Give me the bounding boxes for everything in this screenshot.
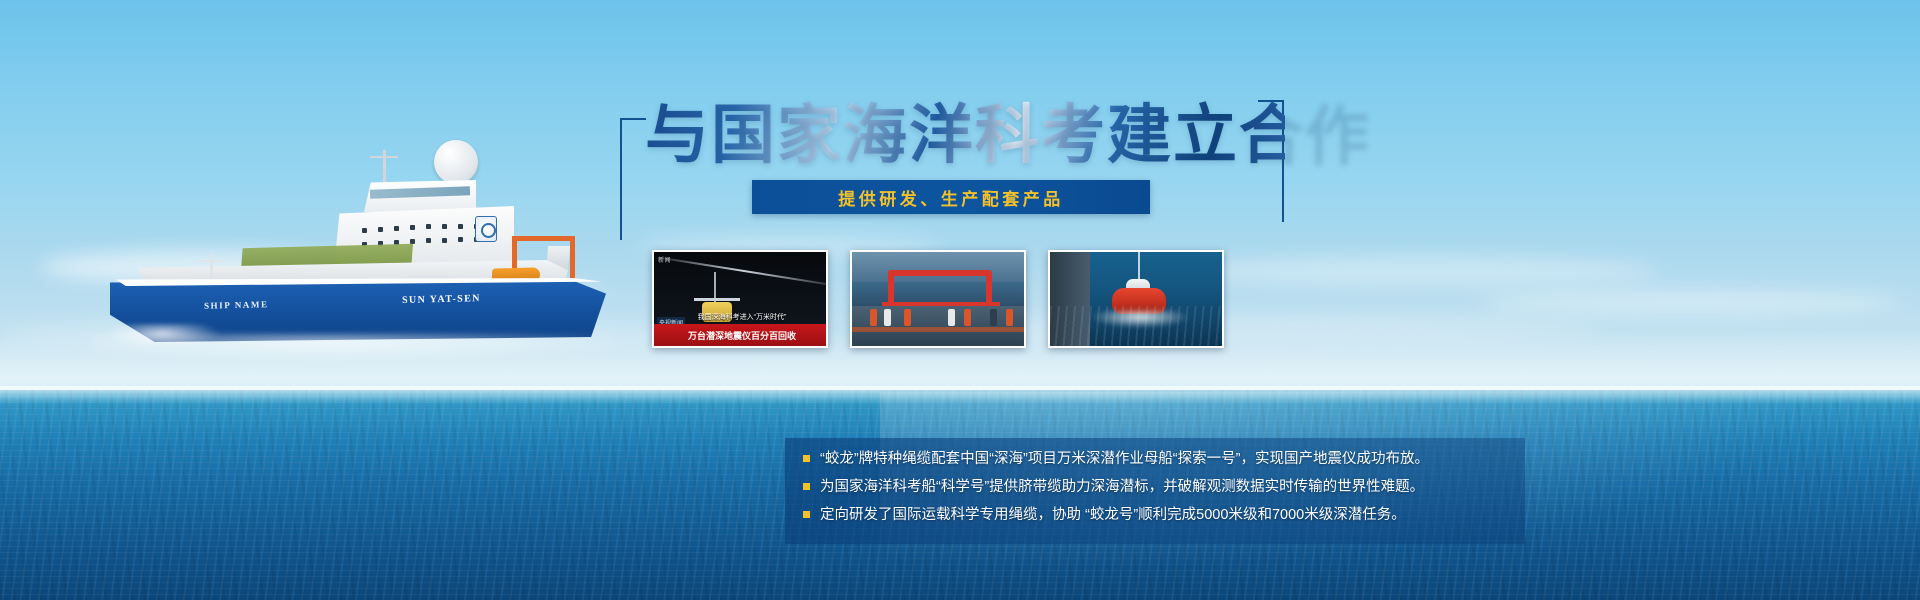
lift-rope <box>1138 252 1140 282</box>
crew-member <box>948 309 955 326</box>
list-item: “蛟龙”牌特种绳缆配套中国“深海”项目万米深潜作业母船“探索一号”，实现国产地震… <box>803 448 1509 470</box>
cloud <box>1480 290 1900 314</box>
crew-member <box>964 309 971 326</box>
hull-name-left: SHIP NAME <box>204 299 269 311</box>
page-title: 与国家海洋科考建立合作 <box>645 96 1285 174</box>
bullet-text: “蛟龙”牌特种绳缆配套中国“深海”项目万米深潜作业母船“探索一号”，实现国产地震… <box>820 448 1429 470</box>
tv-channel-tag: 新闻 <box>658 255 671 264</box>
ship-wake <box>92 334 652 364</box>
radome-dome <box>434 140 478 184</box>
photo-deck <box>852 306 1026 346</box>
thumbnail-deep-sea-deployment-news-clip[interactable]: 新闻 央视新闻 我国深海科考进入“万米时代” 万台潜深地震仪百分百回收 <box>652 250 828 348</box>
wave-texture <box>1050 306 1224 346</box>
crew-member <box>990 309 997 326</box>
news-caption: 我国深海科考进入“万米时代” <box>654 312 828 322</box>
hull-name-right: SUN YAT-SEN <box>402 293 481 306</box>
crew-member <box>904 309 911 326</box>
hero-banner: SHIP NAME SUN YAT-SEN 与国家海洋科考建立合作 提供研发、生… <box>0 0 1920 600</box>
highlights-panel: “蛟龙”牌特种绳缆配套中国“深海”项目万米深潜作业母船“探索一号”，实现国产地震… <box>785 438 1525 544</box>
news-ticker-bar: 万台潜深地震仪百分百回收 <box>654 324 828 346</box>
subtitle-text: 提供研发、生产配套产品 <box>838 185 1064 210</box>
ship-emblem <box>475 216 497 242</box>
lifting-arm <box>694 298 740 301</box>
research-vessel-illustration: SHIP NAME SUN YAT-SEN <box>92 128 622 368</box>
thumbnail-gallery: 新闻 央视新闻 我国深海科考进入“万米时代” 万台潜深地震仪百分百回收 <box>652 250 1224 348</box>
fore-mast-arm <box>198 260 224 262</box>
list-item: 定向研发了国际运载科学专用绳缆，协助 “蛟龙号”顺利完成5000米级和7000米… <box>803 504 1509 526</box>
bracket-left <box>620 118 646 240</box>
bullet-square-icon <box>803 511 810 518</box>
bullet-text: 定向研发了国际运载科学专用绳缆，协助 “蛟龙号”顺利完成5000米级和7000米… <box>820 504 1406 526</box>
thumbnail-submersible-recovery-photo[interactable] <box>1048 250 1224 348</box>
thumbnail-deck-crane-launch-photo[interactable] <box>850 250 1026 348</box>
bullet-square-icon <box>803 455 810 462</box>
crew-member <box>1006 309 1013 326</box>
cloud <box>1180 256 1660 286</box>
bullet-text: 为国家海洋科考船“科学号”提供脐带缆助力深海潜标，并破解观测数据实时传输的世界性… <box>820 476 1424 498</box>
news-ticker-text: 万台潜深地震仪百分百回收 <box>688 329 796 342</box>
deck-line <box>852 327 1026 332</box>
subtitle-bar: 提供研发、生产配套产品 <box>752 180 1150 214</box>
list-item: 为国家海洋科考船“科学号”提供脐带缆助力深海潜标，并破解观测数据实时传输的世界性… <box>803 476 1509 498</box>
crew-member <box>884 309 891 326</box>
cable-line <box>661 257 827 285</box>
bullet-square-icon <box>803 483 810 490</box>
crew-member <box>870 309 877 326</box>
mast-arm <box>370 156 398 158</box>
